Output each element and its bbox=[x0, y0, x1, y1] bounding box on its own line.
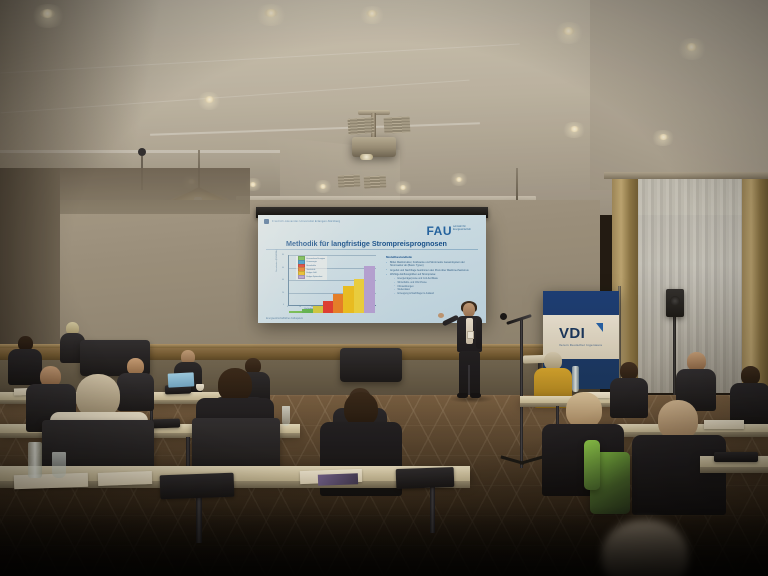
person-body bbox=[632, 435, 726, 515]
chart-ytick: 80 bbox=[282, 254, 284, 256]
ceiling-projector bbox=[352, 137, 396, 157]
chart-xtick: 10 bbox=[299, 306, 301, 308]
downlight bbox=[40, 9, 55, 18]
vdi-subtitle: Verein Deutscher Ingenieure bbox=[559, 343, 602, 347]
slide-title-rule bbox=[266, 249, 478, 250]
audience-member bbox=[678, 352, 714, 406]
table-edge bbox=[700, 467, 768, 473]
chart-ytick: 60 bbox=[282, 267, 284, 269]
bullet-item: Bildet Marktstruktur, Kraftwerke und Str… bbox=[386, 261, 478, 267]
presenter-shoe bbox=[470, 393, 481, 398]
ceiling-vent bbox=[347, 117, 374, 135]
ceiling-vent bbox=[364, 175, 387, 188]
merit-order-chart: 80 60 40 20 0 0 10 20 30 40 50 60 70 Gre… bbox=[274, 255, 378, 313]
downlight bbox=[399, 185, 407, 190]
audience-member bbox=[732, 366, 768, 422]
microphone-icon bbox=[500, 313, 507, 320]
chart-xtick: 0 bbox=[287, 306, 288, 308]
person-head-bald bbox=[566, 392, 602, 428]
legend-item: Erdgas Spitzenlast bbox=[298, 275, 325, 278]
projector-lens bbox=[360, 154, 373, 160]
person-head bbox=[602, 520, 688, 576]
downlight bbox=[658, 134, 669, 140]
ceiling-bulkhead-right bbox=[590, 0, 768, 190]
fau-logo: FAU bbox=[427, 224, 453, 238]
tablet bbox=[152, 419, 180, 429]
chart-y-axis-label: Grenzkosten [EUR/MWh] bbox=[276, 264, 278, 272]
curtain-rail bbox=[604, 172, 768, 179]
slide-bullet-list: Modellbestandteile Bildet Marktstruktur,… bbox=[386, 255, 478, 297]
chart-bar bbox=[333, 294, 343, 313]
ceiling-vent bbox=[384, 116, 411, 133]
chart-y-axis bbox=[288, 255, 289, 305]
presenter bbox=[447, 303, 491, 403]
chart-bar bbox=[364, 266, 375, 313]
conference-room-photo: Friedrich-Alexander-Universität Erlangen… bbox=[0, 0, 768, 576]
bullet-item: Wichtige Einflussgrößen auf Strompreise: bbox=[386, 273, 478, 276]
downlight bbox=[264, 9, 278, 17]
smartphone bbox=[714, 452, 758, 462]
legend-label: Steinkohle bbox=[307, 269, 316, 271]
bullet-item: Angebot und Nachfrage bestimmen den Prei… bbox=[386, 269, 478, 272]
fau-logo-subtitle: Lehrstuhl für Energiewirtschaft bbox=[453, 226, 481, 232]
presenter-leg-split bbox=[468, 365, 470, 395]
downlight bbox=[366, 10, 378, 17]
legend-label: Erdgas Spitzenlast bbox=[307, 276, 323, 278]
chart-bar bbox=[354, 279, 364, 313]
bullets-heading: Modellbestandteile bbox=[386, 255, 478, 259]
downlight bbox=[319, 184, 327, 189]
presenter-head bbox=[463, 303, 475, 317]
water-bottle bbox=[572, 366, 579, 392]
presenter-arm bbox=[476, 319, 482, 349]
chart-bar bbox=[302, 309, 313, 313]
microphone-tripod bbox=[500, 462, 544, 468]
downlight bbox=[562, 27, 575, 35]
presenter-shoe bbox=[457, 393, 468, 398]
chart-legend: Erneuerbare Energien Kernenergie Braunko… bbox=[296, 256, 327, 280]
audience-member-front bbox=[636, 400, 722, 510]
person-head bbox=[344, 392, 378, 426]
wine-glass bbox=[282, 406, 290, 426]
slide-footer: Energiewirtschaftliches Kolloquium bbox=[266, 317, 303, 320]
legend-label: Erdgas GuD bbox=[307, 272, 317, 274]
tablet bbox=[396, 467, 455, 489]
legend-label: Erneuerbare Energien bbox=[307, 258, 326, 260]
legend-label: Braunkohle bbox=[307, 265, 317, 267]
sub-bullet-item: Erzeugung & Nachfrage im Ausland bbox=[394, 293, 478, 296]
chart-bar bbox=[343, 286, 354, 314]
chart-bar bbox=[313, 306, 323, 313]
chart-ytick: 20 bbox=[282, 292, 284, 294]
sub-bullet-item: Wetterdaten bbox=[394, 289, 478, 292]
presenter-hand bbox=[438, 313, 444, 318]
sub-bullet-item: Wirtschafts- und CO2-Preise bbox=[394, 282, 478, 285]
legend-swatch bbox=[298, 275, 305, 280]
ceiling-vent bbox=[338, 174, 361, 187]
vdi-logo: VDI bbox=[559, 325, 585, 342]
foreground-head bbox=[584, 520, 704, 576]
loudspeaker-driver bbox=[670, 296, 680, 306]
table-leg bbox=[430, 487, 435, 533]
sub-bullet-item: Energieträgerpreise und Co2-Zertifikate bbox=[394, 278, 478, 281]
chart-bar bbox=[323, 301, 333, 313]
downlight bbox=[685, 43, 698, 51]
person-head bbox=[218, 368, 252, 402]
presenter-badge bbox=[467, 331, 474, 339]
water-bottle bbox=[28, 442, 42, 478]
person-head-bald bbox=[658, 400, 698, 440]
legend-label: Kernenergie bbox=[307, 261, 317, 263]
slide-header-text: Friedrich-Alexander-Universität Erlangen… bbox=[272, 220, 340, 223]
chair bbox=[340, 348, 402, 382]
laptop-screen bbox=[168, 372, 195, 387]
microphone-stand bbox=[520, 318, 523, 468]
tablet bbox=[160, 473, 235, 500]
chart-bar bbox=[289, 311, 302, 314]
chart-ytick: 0 bbox=[283, 304, 284, 306]
chart-ytick: 40 bbox=[282, 279, 284, 281]
downlight bbox=[204, 96, 215, 103]
backpack-strap bbox=[584, 440, 600, 490]
printed-chart-handout bbox=[318, 473, 358, 485]
paper bbox=[14, 473, 88, 490]
water-glass bbox=[52, 452, 66, 478]
drape-right bbox=[742, 178, 768, 393]
paper bbox=[98, 471, 152, 486]
downlight bbox=[249, 182, 257, 187]
university-logo-icon bbox=[264, 219, 269, 224]
downlight bbox=[569, 126, 580, 132]
downlight bbox=[455, 177, 463, 182]
ceiling-sensor bbox=[138, 148, 146, 156]
slide-title: Methodik für langfristige Strompreisprog… bbox=[286, 239, 447, 248]
